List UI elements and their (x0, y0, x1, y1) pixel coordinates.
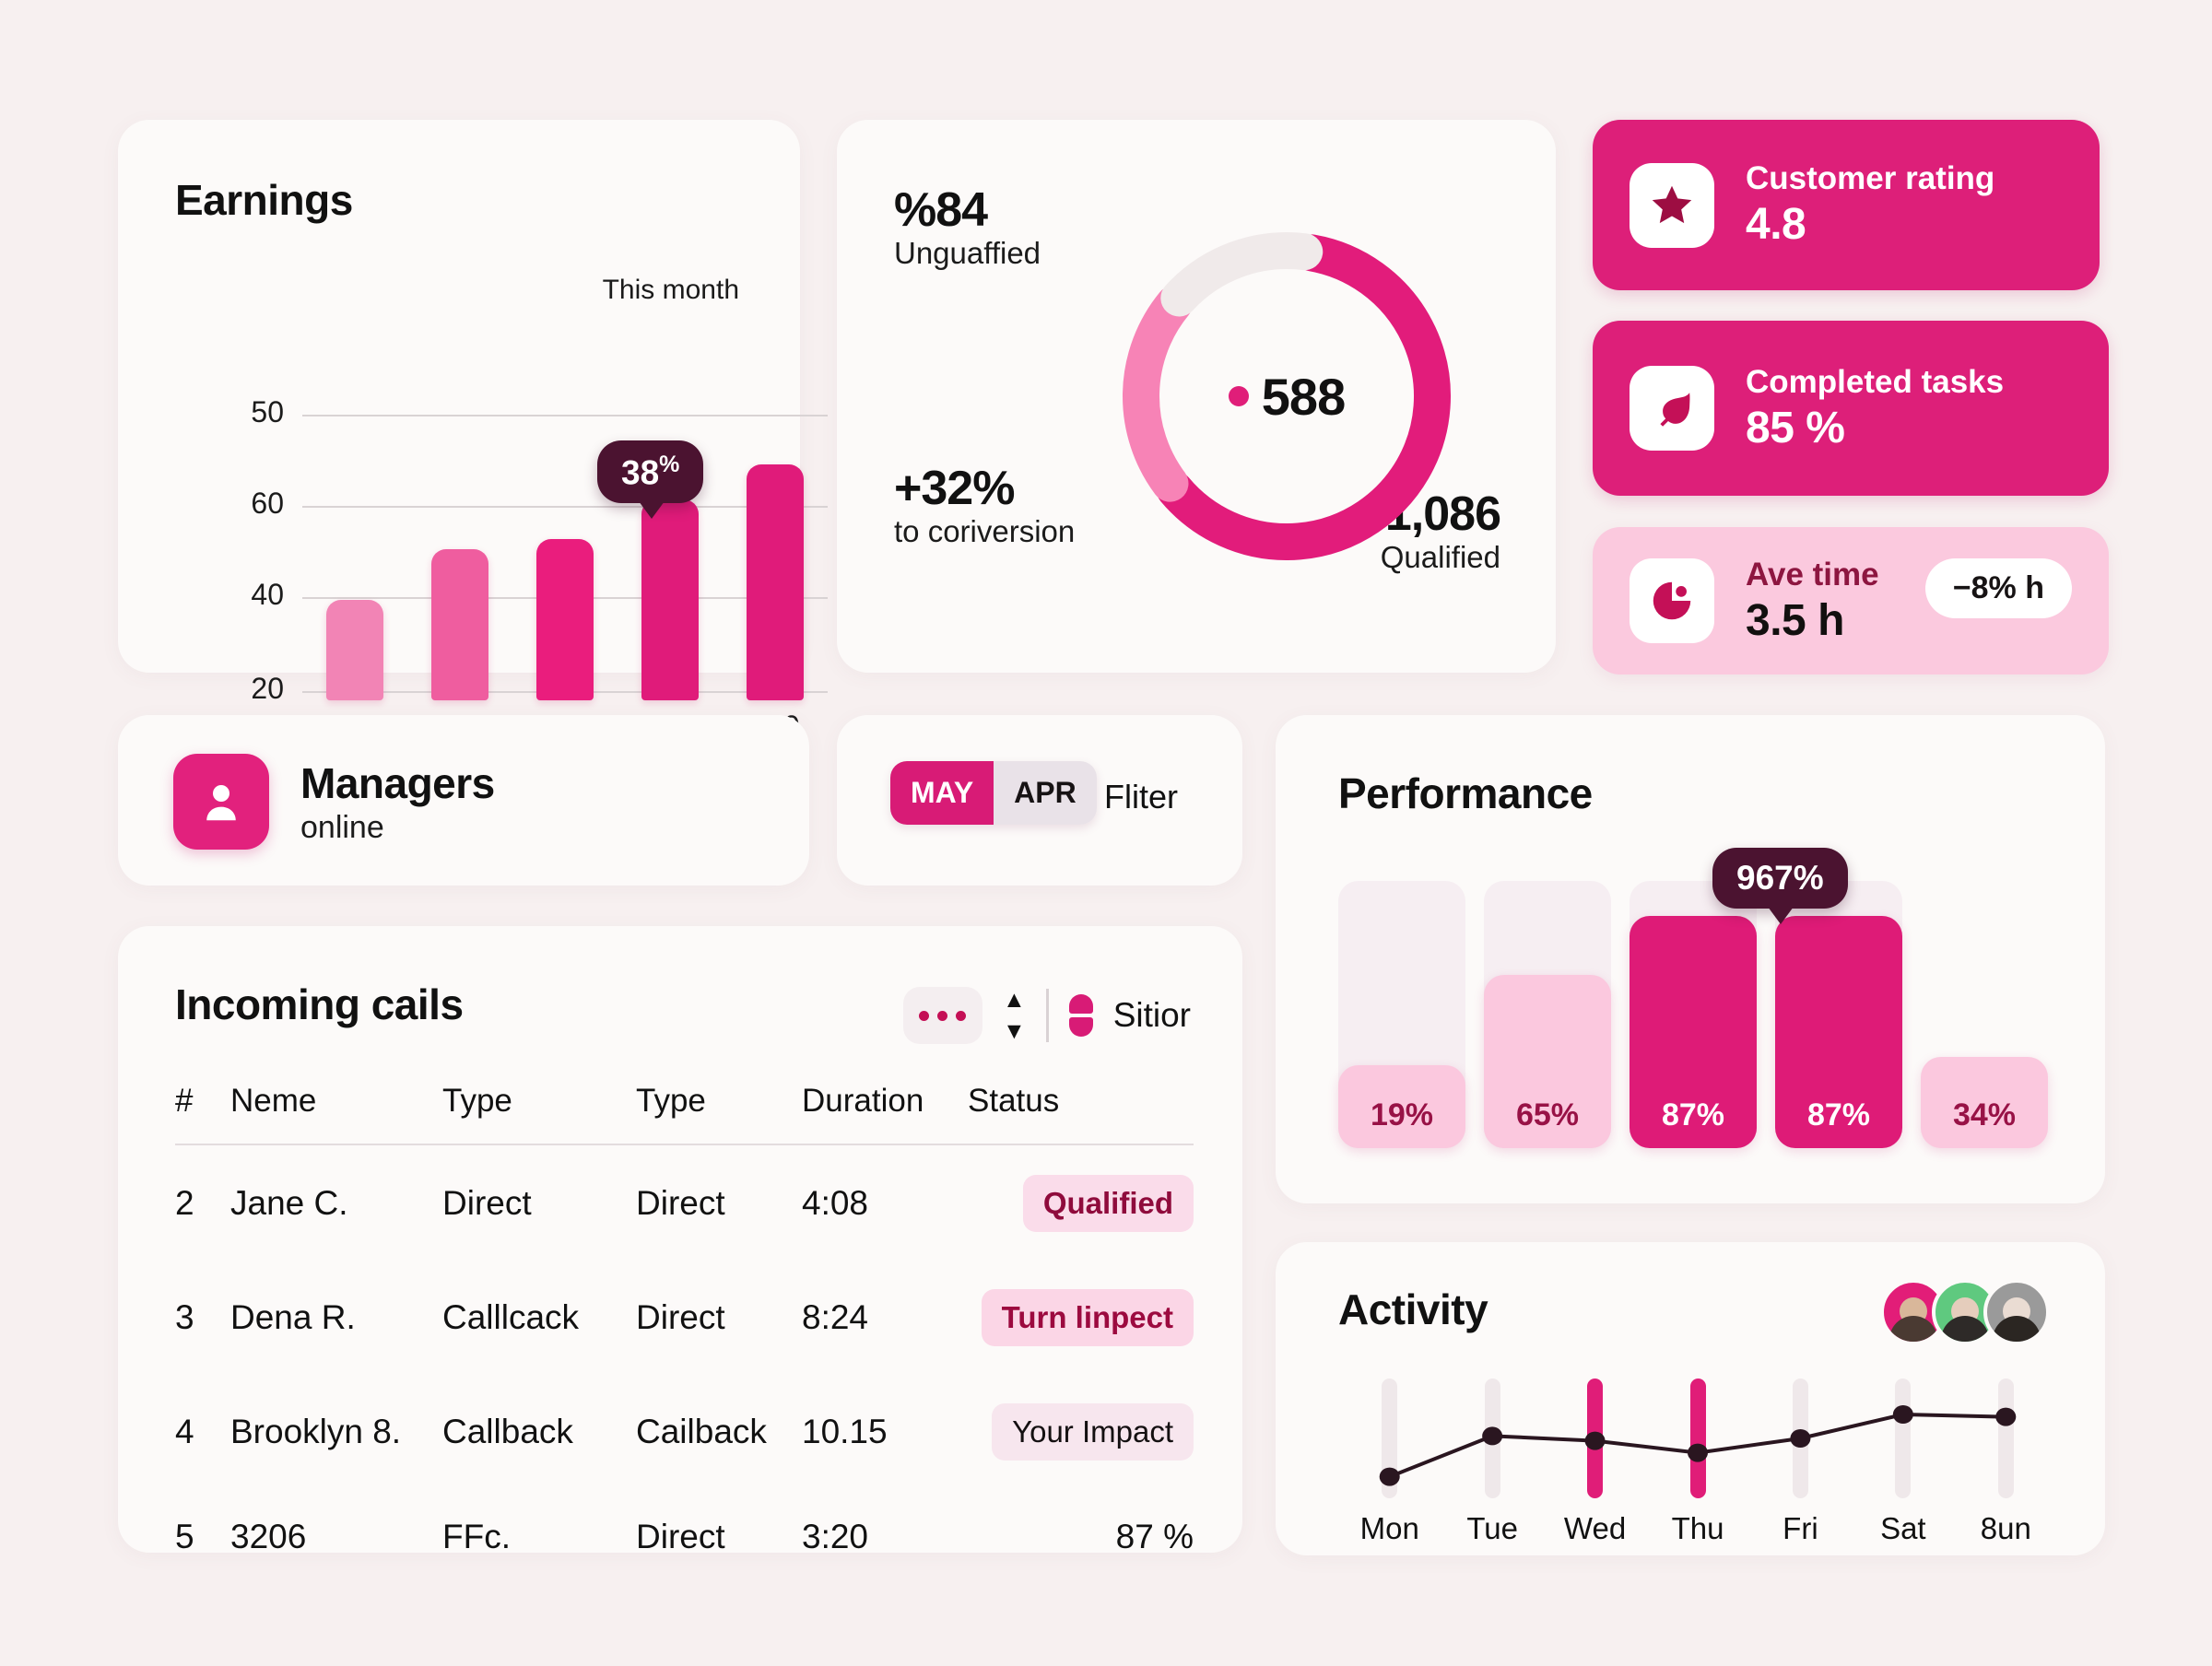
activity-line-chart (1338, 1379, 2057, 1498)
performance-column: 87% (1775, 881, 1902, 1148)
kpi-value: 4.8 (1746, 199, 1994, 250)
kpi-value: 3.5 h (1746, 595, 1879, 646)
activity-title: Activity (1338, 1285, 1488, 1334)
managers-row: Managers online (173, 754, 495, 850)
x-axis-label: Fri (1783, 1511, 1818, 1546)
month-segmented-control[interactable]: MAY APR (890, 761, 1097, 825)
column-header-type1[interactable]: Type (442, 1083, 636, 1144)
performance-bar[interactable]: 87% (1630, 916, 1757, 1148)
split-circle-icon[interactable] (1069, 994, 1093, 1037)
performance-title: Performance (1338, 768, 1593, 818)
status-badge: Turn linpect (982, 1289, 1194, 1346)
kpi-completed-tasks[interactable]: Completed tasks 85 % (1593, 321, 2109, 496)
earnings-bar[interactable] (536, 539, 594, 700)
dot-icon (956, 1011, 966, 1021)
conversion-label: to coriversion (894, 514, 1075, 549)
managers-text: Managers online (300, 758, 495, 846)
performance-column: 34% (1921, 881, 2048, 1148)
conversion-value: +32% (894, 463, 1075, 514)
y-axis-label: 50 (219, 395, 284, 429)
table-row[interactable]: 2Jane C.DirectDirect4:08Qualified (175, 1144, 1194, 1260)
cell-duration: 8:24 (802, 1260, 968, 1374)
avatar-body (1993, 1316, 2041, 1345)
donut-chart: 588 (1084, 194, 1489, 599)
column-header-status[interactable]: Status (968, 1083, 1194, 1144)
kpi-text: Customer rating 4.8 (1746, 160, 1994, 250)
performance-column: 65% (1484, 881, 1611, 1148)
cell-duration: 3:20 (802, 1488, 968, 1584)
chevron-up-icon: ▲ (1003, 989, 1026, 1012)
y-axis-label: 60 (219, 487, 284, 521)
earnings-tooltip: 38% (597, 440, 703, 503)
segment-apr[interactable]: APR (994, 761, 1097, 825)
conversion-card: %84 Unguaffied +32% to coriversion 1,086… (837, 120, 1556, 673)
unqualified-stat: %84 Unguaffied (894, 184, 1041, 271)
donut-center-value: 588 (1262, 367, 1345, 427)
table-header-row: # Neme Type Type Duration Status (175, 1083, 1194, 1144)
earnings-bar[interactable] (747, 464, 804, 700)
sitior-label[interactable]: Sitior (1113, 996, 1191, 1035)
cell-type1: Direct (442, 1144, 636, 1260)
activity-point[interactable] (1790, 1429, 1810, 1448)
activity-point[interactable] (1995, 1408, 2016, 1426)
chevron-down-icon: ▼ (1003, 1020, 1026, 1043)
gridline (302, 415, 828, 416)
kpi-label: Ave time (1746, 557, 1879, 593)
kpi-customer-rating[interactable]: Customer rating 4.8 (1593, 120, 2100, 290)
avatar-body (1941, 1316, 1989, 1345)
performance-card: Performance 19%65%87%87%34% (1276, 715, 2105, 1203)
more-options-button[interactable] (903, 987, 982, 1044)
dot-icon (937, 1011, 947, 1021)
unqualified-label: Unguaffied (894, 236, 1041, 271)
cell-name: Jane C. (230, 1144, 442, 1260)
earnings-plot: 50604020 (302, 415, 846, 700)
user-icon (173, 754, 269, 850)
calls-table-body: 2Jane C.DirectDirect4:08Qualified3Dena R… (175, 1144, 1194, 1584)
x-axis-label: Tue (1466, 1511, 1518, 1546)
kpi-label: Customer rating (1746, 160, 1994, 197)
activity-point[interactable] (1585, 1432, 1606, 1450)
earnings-bar[interactable] (326, 600, 383, 700)
conversion-stat: +32% to coriversion (894, 463, 1075, 549)
earnings-tooltip-value: 38 (621, 453, 659, 491)
performance-bar[interactable]: 87% (1775, 916, 1902, 1148)
earnings-legend: This month (603, 275, 739, 306)
performance-bar[interactable]: 34% (1921, 1057, 2048, 1148)
kpi-text: Ave time 3.5 h (1746, 557, 1879, 646)
star-icon (1630, 163, 1714, 248)
cell-type1: Calllcack (442, 1260, 636, 1374)
performance-column: 87% (1630, 881, 1757, 1148)
leaf-icon (1630, 366, 1714, 451)
cell-num: 3 (175, 1260, 230, 1374)
performance-bars: 19%65%87%87%34% (1338, 881, 2057, 1148)
cell-duration: 10.15 (802, 1374, 968, 1488)
cell-num: 5 (175, 1488, 230, 1584)
cell-type2: Cailback (636, 1374, 802, 1488)
split-bottom (1069, 1017, 1093, 1037)
earnings-bar[interactable] (431, 549, 488, 700)
cell-status: Your Impact (968, 1374, 1194, 1488)
avatar[interactable] (1983, 1279, 2050, 1345)
cell-num: 2 (175, 1144, 230, 1260)
managers-subtitle: online (300, 810, 495, 846)
pie-clock-icon (1630, 558, 1714, 643)
column-header-duration[interactable]: Duration (802, 1083, 968, 1144)
cell-type2: Direct (636, 1488, 802, 1584)
performance-column: 19% (1338, 881, 1465, 1148)
cell-status: Turn linpect (968, 1260, 1194, 1374)
table-row[interactable]: 53206FFc.Direct3:2087 % (175, 1488, 1194, 1584)
column-header-type2[interactable]: Type (636, 1083, 802, 1144)
avatar-body (1889, 1316, 1937, 1345)
incoming-calls-card: Incoming cails ▲ ▼ Sitior # Nem (118, 926, 1242, 1553)
performance-tooltip: 967% (1712, 848, 1848, 909)
dot-icon (919, 1011, 929, 1021)
donut-center: 588 (1084, 194, 1489, 599)
toolbar-divider (1046, 989, 1049, 1042)
earnings-bar[interactable] (641, 499, 699, 700)
calls-table: # Neme Type Type Duration Status 2Jane C… (175, 1083, 1194, 1584)
x-axis-label: Sat (1880, 1511, 1926, 1546)
cell-type1: Callback (442, 1374, 636, 1488)
cell-status: 87 % (968, 1488, 1194, 1584)
dashboard-root: Earnings This month 50604020 20406080100… (0, 0, 2212, 1666)
cell-name: Brooklyn 8. (230, 1374, 442, 1488)
status-badge: Qualified (1023, 1175, 1194, 1232)
donut-dot-icon (1229, 386, 1249, 406)
y-axis-label: 20 (219, 672, 284, 706)
cell-name: 3206 (230, 1488, 442, 1584)
segment-may[interactable]: MAY (890, 761, 994, 825)
page-title: Earnings (175, 175, 353, 225)
activity-plot (1338, 1379, 2057, 1498)
y-axis-label: 40 (219, 578, 284, 612)
incoming-calls-title: Incoming cails (175, 980, 464, 1029)
calls-toolbar: ▲ ▼ Sitior (903, 987, 1191, 1044)
split-top (1069, 994, 1093, 1014)
table-row[interactable]: 3Dena R.CalllcackDirect8:24Turn linpect (175, 1260, 1194, 1374)
status-badge: −8% h (1925, 558, 2072, 618)
managers-title: Managers (300, 758, 495, 808)
activity-point[interactable] (1893, 1405, 1913, 1424)
performance-bar[interactable]: 19% (1338, 1065, 1465, 1148)
cell-duration: 4:08 (802, 1144, 968, 1260)
status-badge: Your Impact (992, 1403, 1194, 1461)
cell-type2: Direct (636, 1144, 802, 1260)
filter-label: Fliter (1104, 778, 1178, 816)
activity-point[interactable] (1482, 1426, 1502, 1445)
earnings-tooltip-unit: % (659, 452, 679, 477)
kpi-value: 85 % (1746, 403, 2004, 453)
earnings-card: Earnings This month 50604020 20406080100… (118, 120, 800, 673)
filter-card: MAY APR Fliter (837, 715, 1242, 886)
activity-point[interactable] (1688, 1444, 1708, 1462)
unqualified-value: %84 (894, 184, 1041, 236)
x-axis-label: Mon (1360, 1511, 1419, 1546)
activity-card: Activity MonTueWedThuFriSat8un (1276, 1242, 2105, 1555)
sort-button[interactable]: ▲ ▼ (1003, 989, 1026, 1043)
kpi-ave-time[interactable]: Ave time 3.5 h −8% h (1593, 527, 2109, 675)
performance-bar[interactable]: 65% (1484, 975, 1611, 1149)
earnings-bar-group (302, 424, 828, 700)
cell-type2: Direct (636, 1260, 802, 1374)
cell-name: Dena R. (230, 1260, 442, 1374)
status-value: 87 % (1116, 1518, 1194, 1555)
x-axis-label: Thu (1672, 1511, 1724, 1546)
column-header-num[interactable]: # (175, 1083, 230, 1144)
kpi-text: Completed tasks 85 % (1746, 364, 2004, 453)
x-axis-label: 8un (1981, 1511, 2031, 1546)
activity-point[interactable] (1380, 1468, 1400, 1486)
cell-num: 4 (175, 1374, 230, 1488)
cell-type1: FFc. (442, 1488, 636, 1584)
avatar-group[interactable] (1880, 1279, 2050, 1345)
kpi-label: Completed tasks (1746, 364, 2004, 401)
managers-card[interactable]: Managers online (118, 715, 809, 886)
table-row[interactable]: 4Brooklyn 8.CallbackCailback10.15Your Im… (175, 1374, 1194, 1488)
cell-status: Qualified (968, 1144, 1194, 1260)
x-axis-label: Wed (1564, 1511, 1626, 1546)
column-header-name[interactable]: Neme (230, 1083, 442, 1144)
